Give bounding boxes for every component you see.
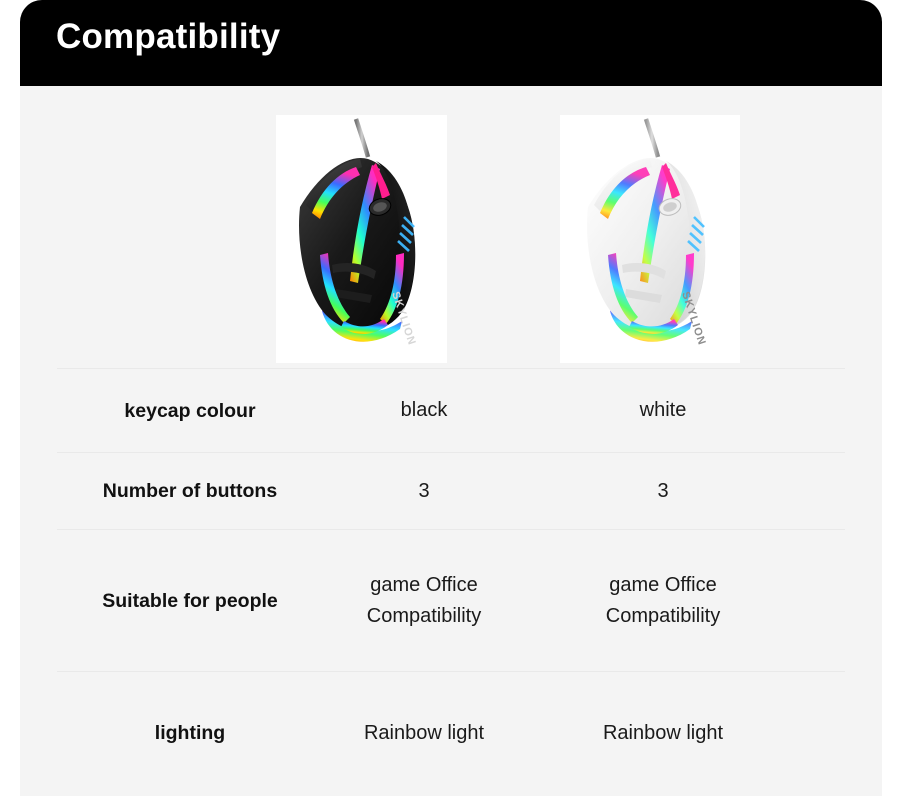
spec-value-lighting-white: Rainbow light xyxy=(519,718,807,749)
spec-value-suitable-for-people-black: game Office Compatibility xyxy=(329,570,519,632)
spec-value-number-of-buttons-white: 3 xyxy=(519,476,807,507)
compatibility-spec-page: Compatibility xyxy=(0,0,900,802)
spec-label-keycap-colour: keycap colour xyxy=(57,398,329,424)
spec-value-keycap-colour-black: black xyxy=(329,395,519,426)
spec-value-lighting-black: Rainbow light xyxy=(329,718,519,749)
spec-value-number-of-buttons-black: 3 xyxy=(329,476,519,507)
black-gaming-mouse-icon: SKYLION xyxy=(276,115,447,363)
content-panel: SKYLION xyxy=(20,86,882,796)
spec-value-keycap-colour-white: white xyxy=(519,395,807,426)
table-row: lighting Rainbow light Rainbow light xyxy=(57,671,845,794)
header-banner: Compatibility xyxy=(20,0,882,86)
table-row: keycap colour black white xyxy=(57,368,845,452)
page-title: Compatibility xyxy=(56,14,280,60)
spec-label-number-of-buttons: Number of buttons xyxy=(57,478,329,504)
product-image-row: SKYLION xyxy=(20,86,882,368)
spec-label-suitable-for-people: Suitable for people xyxy=(57,588,329,614)
spec-comparison-table: keycap colour black white Number of butt… xyxy=(57,368,845,794)
product-image-white: SKYLION xyxy=(560,115,740,363)
spec-label-lighting: lighting xyxy=(57,720,329,746)
white-gaming-mouse-icon: SKYLION xyxy=(560,115,740,363)
spec-value-suitable-for-people-white: game Office Compatibility xyxy=(519,570,807,632)
table-row: Suitable for people game Office Compatib… xyxy=(57,529,845,671)
product-image-black: SKYLION xyxy=(276,115,447,363)
table-row: Number of buttons 3 3 xyxy=(57,452,845,529)
